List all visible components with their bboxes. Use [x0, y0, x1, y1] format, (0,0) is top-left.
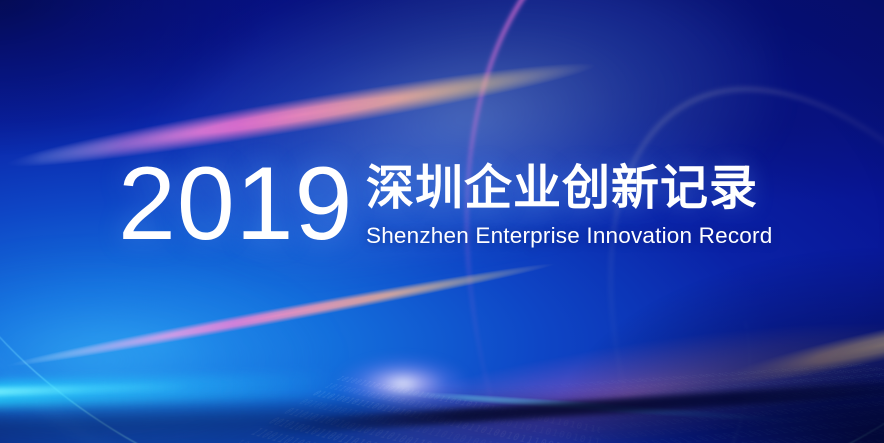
- title-english: Shenzhen Enterprise Innovation Record: [366, 223, 766, 249]
- title-block: 深圳企业创新记录 Shenzhen Enterprise Innovation …: [366, 164, 766, 249]
- title-chinese: 深圳企业创新记录: [366, 164, 766, 214]
- banner-poster: 1001011010011101001101011001100101101001…: [0, 0, 884, 443]
- year-label: 2019: [118, 152, 353, 256]
- headline-content: 2019 深圳企业创新记录 Shenzhen Enterprise Innova…: [0, 0, 884, 443]
